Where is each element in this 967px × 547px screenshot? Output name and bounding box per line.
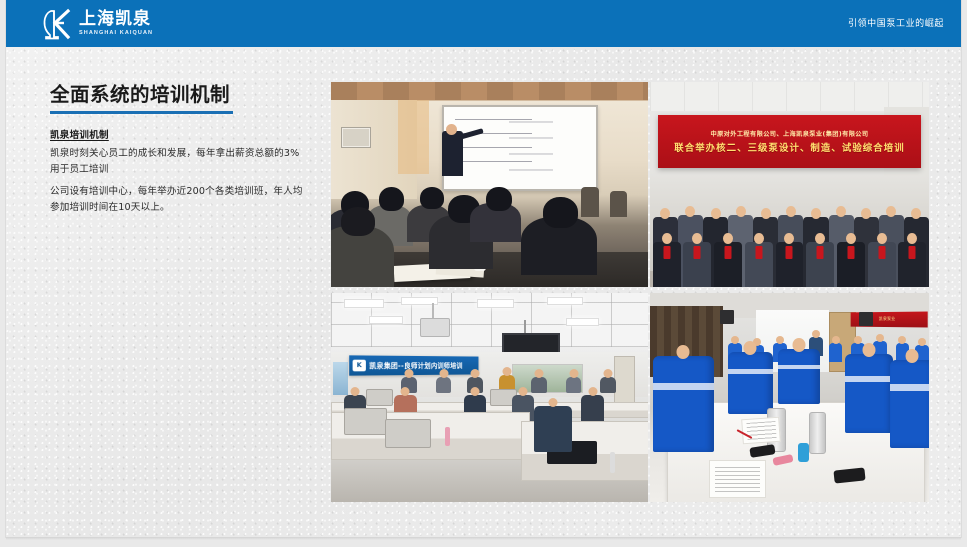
kaiquan-k-logo-icon: [38, 8, 72, 40]
photo-lecture-hall: [331, 82, 648, 287]
photo-computer-training: K 凯泉集团--良师计划内训师培训: [331, 293, 648, 502]
banner-text: 凯泉集团--良师计划内训师培训: [369, 360, 462, 370]
brand-wordmark: 上海凯泉 SHANGHAI KAIQUAN: [79, 11, 153, 37]
banner-line-1: 中原对外工程有限公司、上海凯泉泵业(集团)有限公司: [711, 129, 869, 138]
body-paragraph-2: 公司设有培训中心，每年举办近200个各类培训班，年人均参加培训时间在10天以上。: [50, 184, 306, 215]
photo-banner-blue: K 凯泉集团--良师计划内训师培训: [349, 355, 478, 375]
slide-title-block: 全面系统的培训机制: [50, 84, 316, 114]
title-underline-rule: [50, 111, 233, 114]
photo-group-banner: 中原对外工程有限公司、上海凯泉泵业(集团)有限公司 联合举办核二、三级泵设计、制…: [650, 82, 929, 287]
slide-body-text: 凯泉培训机制 凯泉时刻关心员工的成长和发展，每年拿出薪资总额的3%用于员工培训 …: [50, 127, 306, 215]
photo-grid: 中原对外工程有限公司、上海凯泉泵业(集团)有限公司 联合举办核二、三级泵设计、制…: [331, 82, 929, 502]
brand-logo[interactable]: 上海凯泉 SHANGHAI KAIQUAN: [38, 7, 153, 41]
banner-text: 凯泉泵业: [879, 316, 896, 322]
brand-name-cn: 上海凯泉: [79, 11, 153, 28]
slide-canvas: 上海凯泉 SHANGHAI KAIQUAN 引领中国泵工业的崛起 全面系统的培训…: [6, 0, 961, 537]
slide-header: 上海凯泉 SHANGHAI KAIQUAN 引领中国泵工业的崛起: [6, 0, 961, 47]
header-tagline: 引领中国泵工业的崛起: [848, 16, 944, 29]
page-bottom-shadow: [6, 537, 961, 540]
banner-line-2: 联合举办核二、三级泵设计、制造、试验综合培训: [674, 140, 904, 154]
photo-banner-red: 中原对外工程有限公司、上海凯泉泵业(集团)有限公司 联合举办核二、三级泵设计、制…: [658, 115, 920, 168]
body-sub-heading: 凯泉培训机制: [50, 127, 306, 141]
body-paragraph-1: 凯泉时刻关心员工的成长和发展，每年拿出薪资总额的3%用于员工培训: [50, 146, 306, 177]
photo-workshop-blue-uniform: 凯泉泵业: [650, 293, 929, 502]
brand-name-en: SHANGHAI KAIQUAN: [79, 31, 153, 37]
kaiquan-k-logo-icon: K: [353, 359, 366, 371]
page-title: 全面系统的培训机制: [50, 84, 316, 105]
